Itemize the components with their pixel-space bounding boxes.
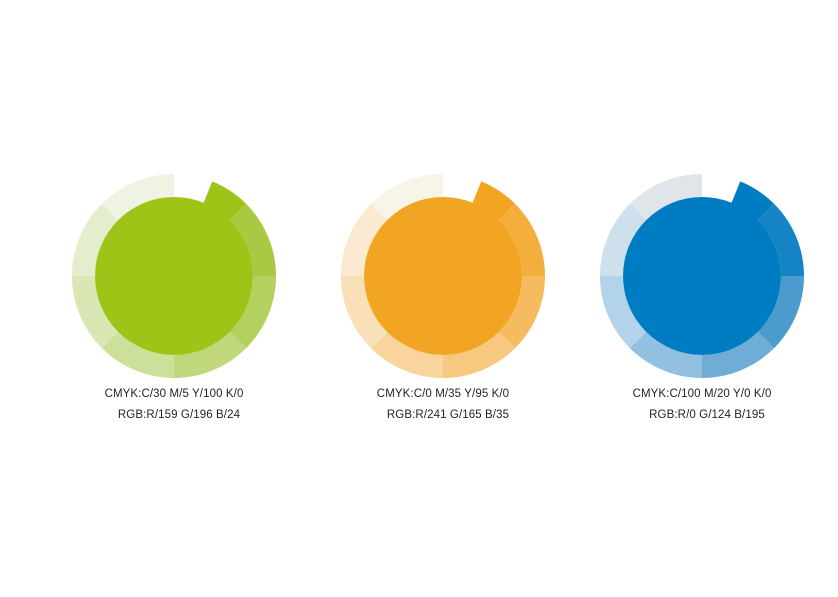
wheel-core-orange [364,197,522,355]
wheel-green-svg [44,173,304,381]
cmyk-label-blue: CMYK:C/100 M/20 Y/0 K/0 [572,389,832,401]
color-wheel-blue [572,173,832,379]
cmyk-label-green: CMYK:C/30 M/5 Y/100 K/0 [44,389,304,401]
color-spec-board: CMYK:C/30 M/5 Y/100 K/0 RGB:R/159 G/196 … [0,0,838,597]
color-swatch-green[interactable]: CMYK:C/30 M/5 Y/100 K/0 RGB:R/159 G/196 … [44,173,304,443]
color-caption-green: CMYK:C/30 M/5 Y/100 K/0 RGB:R/159 G/196 … [44,389,304,421]
rgb-label-green: RGB:R/159 G/196 B/24 [44,410,304,422]
wheel-blue-svg [572,173,832,381]
cmyk-label-orange: CMYK:C/0 M/35 Y/95 K/0 [313,389,573,401]
color-swatch-blue[interactable]: CMYK:C/100 M/20 Y/0 K/0 RGB:R/0 G/124 B/… [572,173,832,443]
color-caption-blue: CMYK:C/100 M/20 Y/0 K/0 RGB:R/0 G/124 B/… [572,389,832,421]
rgb-label-orange: RGB:R/241 G/165 B/35 [313,410,573,422]
rgb-label-blue: RGB:R/0 G/124 B/195 [572,410,832,422]
color-swatch-orange[interactable]: CMYK:C/0 M/35 Y/95 K/0 RGB:R/241 G/165 B… [313,173,573,443]
color-wheel-orange [313,173,573,379]
color-wheel-green [44,173,304,379]
color-caption-orange: CMYK:C/0 M/35 Y/95 K/0 RGB:R/241 G/165 B… [313,389,573,421]
wheel-core-green [95,197,253,355]
wheel-orange-svg [313,173,573,381]
wheel-core-blue [623,197,781,355]
